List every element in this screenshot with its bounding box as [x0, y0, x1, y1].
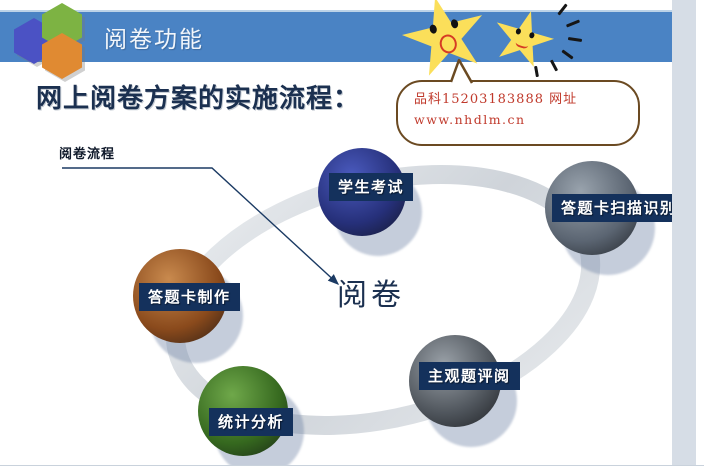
star-big-icon: [393, 0, 496, 87]
hex-orange-icon: [42, 33, 82, 79]
page-title: 网上阅卷方案的实施流程：: [36, 78, 360, 115]
node-label-answer-sheet-scan: 答题卡扫描识别: [552, 194, 686, 222]
node-label-statistics-analysis: 统计分析: [209, 408, 293, 436]
bottom-border-fill: [0, 466, 704, 472]
node-label-student-exam: 学生考试: [329, 173, 413, 201]
node-label-subjective-grading: 主观题评阅: [419, 362, 520, 390]
callout-label: 阅卷流程: [59, 143, 115, 162]
right-border-inner: [696, 0, 704, 472]
header-title: 阅卷功能: [104, 20, 204, 54]
hexagon-logo: [8, 2, 100, 76]
bubble-line-2: www.nhdlm.cn: [414, 110, 628, 130]
slide-canvas: 阅卷功能 品科15203183888 网址 www.nhdlm.cn 网上阅卷方…: [0, 0, 704, 472]
node-label-answer-sheet-make: 答题卡制作: [139, 283, 240, 311]
bubble-line-1: 品科15203183888 网址: [414, 90, 628, 110]
speech-bubble: 品科15203183888 网址 www.nhdlm.cn: [396, 80, 640, 146]
center-word: 阅卷: [337, 270, 405, 314]
